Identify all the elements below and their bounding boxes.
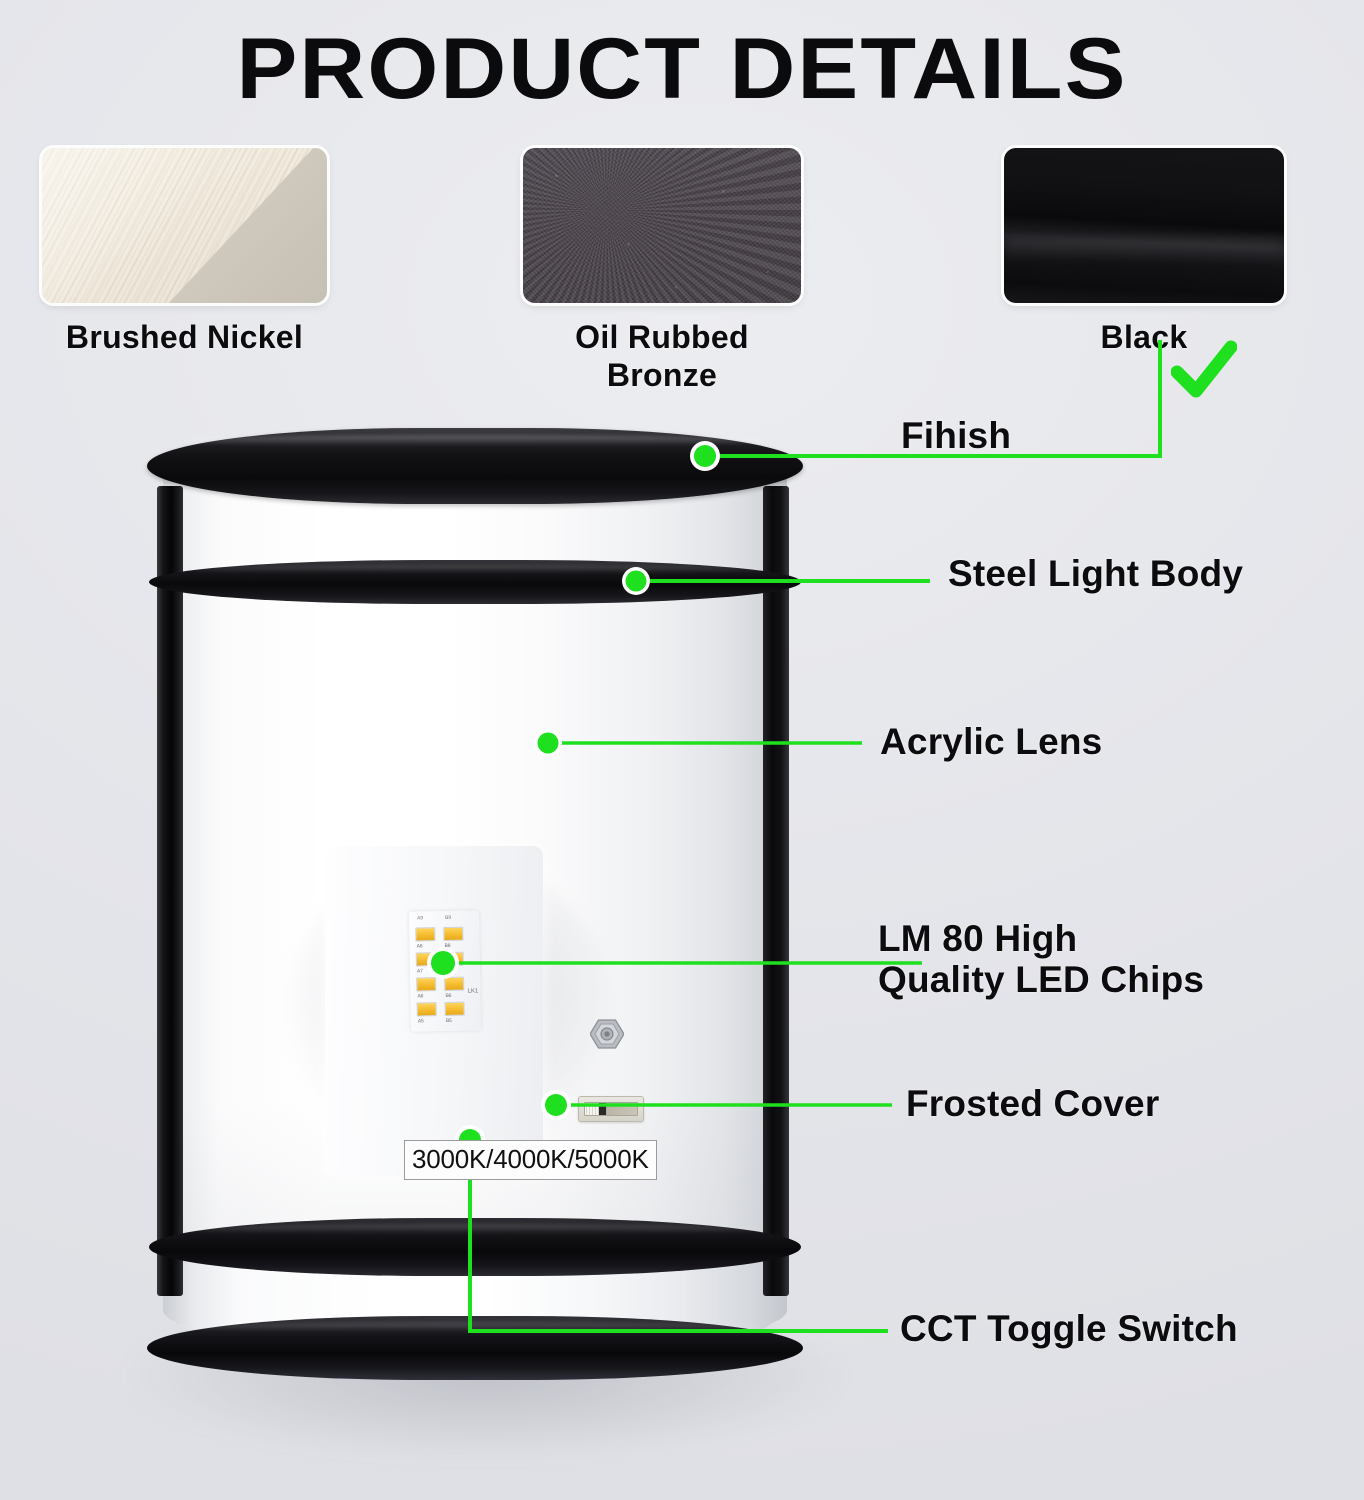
finish-option-brushed-nickel[interactable]: Brushed Nickel xyxy=(42,148,327,357)
led-chip-label: A6 xyxy=(417,993,423,999)
callout-label-steel-light-body: Steel Light Body xyxy=(948,553,1243,594)
infographic-canvas: PRODUCT DETAILS Brushed Nickel Oil Rubbe… xyxy=(0,0,1364,1500)
steel-band-upper xyxy=(149,560,801,604)
swatch-brushed-nickel xyxy=(42,148,327,303)
steel-band-base xyxy=(147,1316,803,1380)
check-icon xyxy=(1171,339,1237,401)
swatch-label-black: Black xyxy=(1004,319,1284,357)
steel-top-cap xyxy=(147,428,803,504)
finish-option-oil-rubbed-bronze[interactable]: Oil Rubbed Bronze xyxy=(523,148,801,395)
steel-rail-right xyxy=(763,486,789,1296)
led-chip: B6 xyxy=(444,977,464,991)
led-chip-board: A9 B9 A8 B8 A7 B7 A6 B6 A5 B5 LK1 xyxy=(409,910,481,1031)
led-chip-label: A7 xyxy=(417,968,423,974)
product-image-wall-sconce: A9 B9 A8 B8 A7 B7 A6 B6 A5 B5 LK1 xyxy=(135,428,815,1463)
callout-label-cct-toggle: CCT Toggle Switch xyxy=(900,1308,1238,1349)
led-chip: A7 xyxy=(416,952,436,966)
led-chip-label: B5 xyxy=(446,1018,452,1024)
swatch-black xyxy=(1004,148,1284,303)
led-chip: A8 xyxy=(415,927,435,941)
led-chip: A6 xyxy=(416,977,436,991)
steel-rail-left xyxy=(157,486,183,1296)
led-chip-label: B8 xyxy=(445,943,451,949)
swatch-label-oil-rubbed-bronze: Oil Rubbed Bronze xyxy=(523,319,801,395)
page-title: PRODUCT DETAILS xyxy=(0,26,1364,112)
callout-label-acrylic-lens: Acrylic Lens xyxy=(880,721,1102,762)
steel-band-lower xyxy=(149,1218,801,1276)
led-tag-a9: A9 xyxy=(417,915,423,921)
led-chip-label: B7 xyxy=(445,968,451,974)
dip-switch-track xyxy=(584,1102,638,1116)
led-chip: B5 xyxy=(445,1002,465,1016)
led-board-marking: LK1 xyxy=(468,988,479,994)
led-chip-label: A5 xyxy=(418,1018,424,1024)
finish-swatch-row: Brushed Nickel Oil Rubbed Bronze Black xyxy=(0,148,1364,398)
led-chip: B8 xyxy=(443,927,463,941)
led-chip-grid: A8 B8 A7 B7 A6 B6 A5 B5 xyxy=(415,927,469,1026)
led-chip: B7 xyxy=(444,952,464,966)
led-chip-label: A8 xyxy=(417,943,423,949)
swatch-label-brushed-nickel: Brushed Nickel xyxy=(42,319,327,357)
led-tag-b9: B9 xyxy=(445,915,451,921)
callout-label-frosted-cover: Frosted Cover xyxy=(906,1083,1159,1124)
finish-option-black[interactable]: Black xyxy=(1004,148,1284,357)
callout-label-finish: Fihish xyxy=(901,415,1011,456)
hex-screw-icon xyxy=(590,1018,624,1050)
cct-dip-switch[interactable] xyxy=(578,1096,644,1122)
swatch-oil-rubbed-bronze xyxy=(523,148,801,303)
callout-label-led-chips: LM 80 High Quality LED Chips xyxy=(878,918,1204,1001)
cct-value-tag: 3000K/4000K/5000K xyxy=(404,1140,657,1180)
led-chip-label: B6 xyxy=(445,993,451,999)
led-chip: A5 xyxy=(417,1002,437,1016)
